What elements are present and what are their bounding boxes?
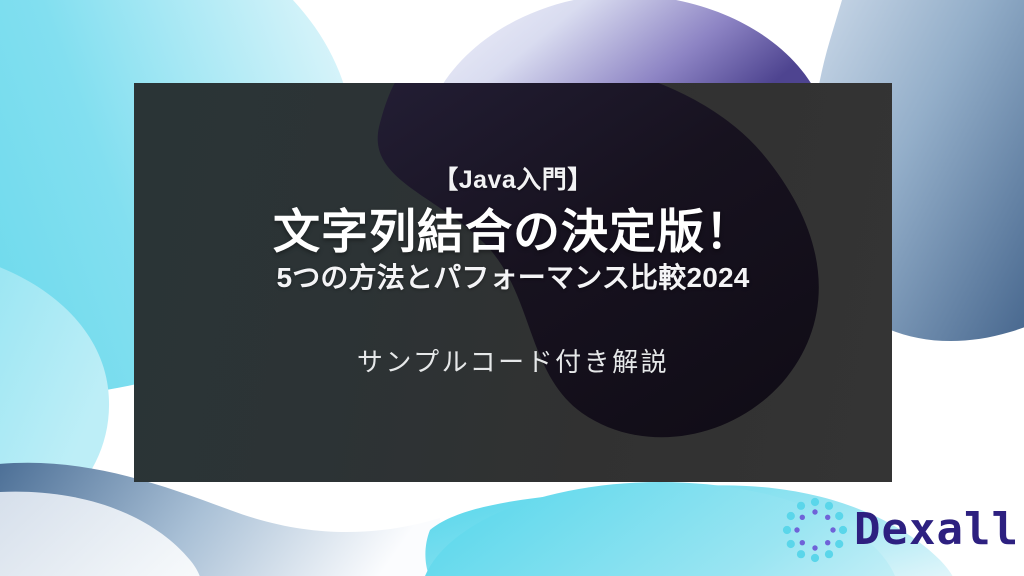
- blob-cyan-left: [0, 247, 109, 569]
- blob-pale-bottom-left: [0, 492, 202, 576]
- dexall-dot-ring-icon: [782, 497, 848, 563]
- title-card: 【Java入門】 文字列結合の決定版！ 5つの方法とパフォーマンス比較2024 …: [134, 83, 892, 482]
- eyebrow-text: 【Java入門】: [433, 165, 593, 195]
- headline-text: 文字列結合の決定版！: [273, 204, 753, 259]
- brand-wordmark: Dexall: [854, 508, 1019, 552]
- slide-canvas: 【Java入門】 文字列結合の決定版！ 5つの方法とパフォーマンス比較2024 …: [0, 0, 1024, 576]
- brand-logo: Dexall: [782, 492, 1014, 568]
- card-text-block: 【Java入門】 文字列結合の決定版！ 5つの方法とパフォーマンス比較2024 …: [134, 83, 892, 482]
- tagline-text: サンプルコード付き解説: [357, 347, 669, 378]
- subheadline-text: 5つの方法とパフォーマンス比較2024: [276, 261, 749, 295]
